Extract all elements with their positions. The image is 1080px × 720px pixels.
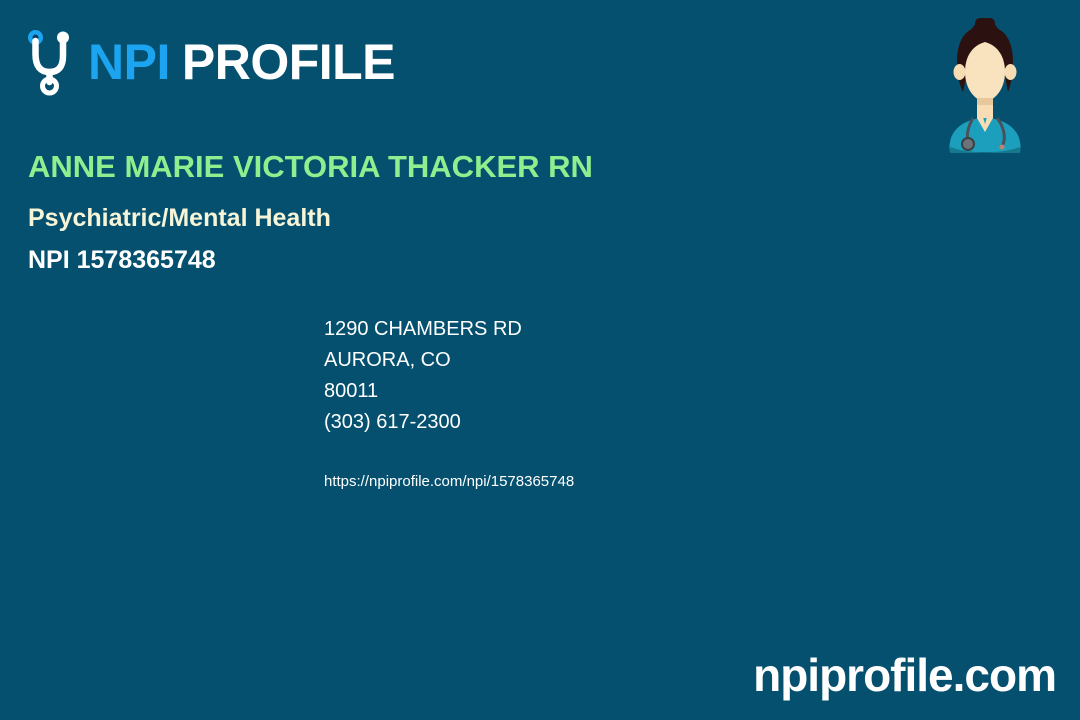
nurse-avatar-icon	[935, 14, 1035, 159]
provider-specialty: Psychiatric/Mental Health	[28, 204, 331, 233]
profile-url[interactable]: https://npiprofile.com/npi/1578365748	[324, 473, 574, 491]
stethoscope-icon	[24, 28, 84, 96]
provider-name: ANNE MARIE VICTORIA THACKER RN	[28, 150, 593, 184]
address-street: 1290 CHAMBERS RD	[324, 314, 522, 345]
provider-npi-number: NPI 1578365748	[28, 246, 216, 275]
footer-brand: npiprofile.com	[753, 652, 1056, 698]
brand-logo: NPIPROFILE	[24, 28, 395, 96]
address-zip: 80011	[324, 376, 522, 407]
logo-wordmark: NPIPROFILE	[88, 37, 395, 87]
logo-text-profile: PROFILE	[182, 34, 395, 90]
address-block: 1290 CHAMBERS RD AURORA, CO 80011 (303) …	[324, 314, 522, 438]
logo-text-npi: NPI	[88, 34, 170, 90]
address-city-state: AURORA, CO	[324, 345, 522, 376]
address-phone: (303) 617-2300	[324, 407, 522, 438]
